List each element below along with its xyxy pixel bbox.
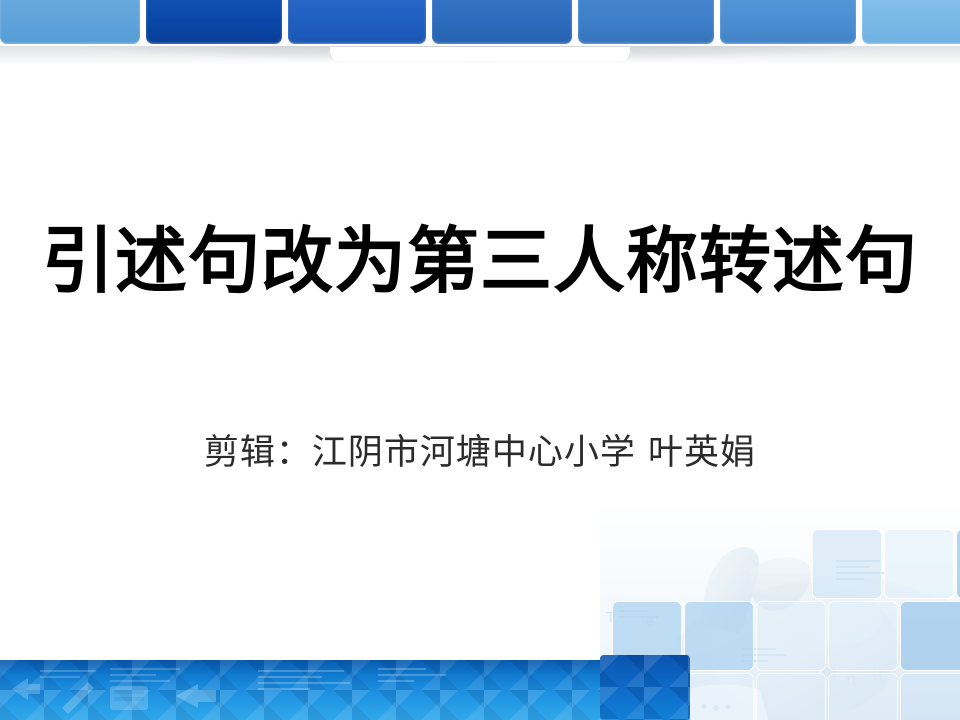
header-tile-2 <box>146 0 282 44</box>
mosaic-tile-r3c2 <box>685 674 753 720</box>
band-end-tile <box>600 655 690 720</box>
header-tile-7 <box>862 0 960 44</box>
mosaic-tile-r2c5 <box>901 602 960 670</box>
mosaic-tile-r2c3 <box>757 602 825 670</box>
header-tile-4 <box>432 0 572 44</box>
mosaic-tile-r3c5 <box>901 674 960 720</box>
slide-title: 引述句改为第三人称转述句 <box>0 222 960 301</box>
header-tile-3 <box>288 0 426 44</box>
mosaic-tile-r2c2 <box>685 602 753 670</box>
title-block: 引述句改为第三人称转述句 <box>0 222 960 301</box>
header-tile-1 <box>0 0 140 44</box>
presentation-slide: 引述句改为第三人称转述句 剪辑：江阴市河塘中心小学 叶英娟 <box>0 0 960 720</box>
mosaic-tile-r3c3 <box>757 674 825 720</box>
header-tile-band <box>0 0 960 46</box>
header-shadow-highlight <box>330 47 630 61</box>
band-text-ghost-left <box>40 666 240 688</box>
band-text-ghost-right <box>258 668 488 698</box>
mosaic-tile-r2c4 <box>829 602 897 670</box>
bottom-triangle-band <box>0 660 690 720</box>
mosaic-tile-r3c4 <box>829 674 897 720</box>
slide-subtitle: 剪辑：江阴市河塘中心小学 叶英娟 <box>0 424 960 475</box>
header-tile-6 <box>720 0 856 44</box>
mosaic-tile-r1c3 <box>813 530 881 598</box>
subtitle-block: 剪辑：江阴市河塘中心小学 叶英娟 <box>0 424 960 475</box>
band-end-tile-pattern <box>600 655 690 720</box>
header-tile-5 <box>578 0 714 44</box>
mosaic-tile-r1c4 <box>885 530 953 598</box>
